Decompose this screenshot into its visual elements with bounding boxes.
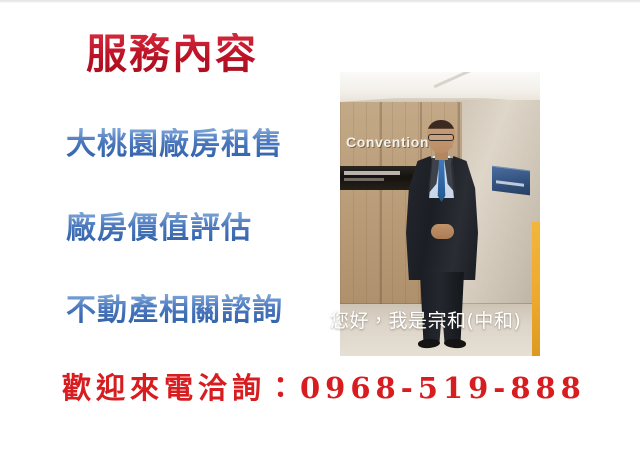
clasped-hands xyxy=(431,224,454,239)
counter-highlight-2 xyxy=(344,178,384,181)
counter-highlight-1 xyxy=(344,171,400,175)
page-title: 服務內容 xyxy=(86,33,258,76)
glasses-icon xyxy=(428,134,454,141)
photo-caption: 您好，我是宗和(中和) xyxy=(330,306,521,333)
accent-strip xyxy=(532,222,540,356)
shoe-left xyxy=(418,338,441,349)
service-item-1: 大桃園廠房租售 xyxy=(66,128,283,161)
contact-phone-line: 歡迎來電洽詢：0968-519-888 xyxy=(62,372,586,405)
shoe-right xyxy=(444,338,467,349)
service-item-3: 不動產相關諮詢 xyxy=(66,294,283,327)
slide-canvas: 服務內容 大桃園廠房租售 廠房價值評估 不動產相關諮詢 歡迎來電洽詢：0968-… xyxy=(0,0,640,451)
top-divider xyxy=(0,0,640,3)
service-item-2: 廠房價值評估 xyxy=(66,212,252,245)
